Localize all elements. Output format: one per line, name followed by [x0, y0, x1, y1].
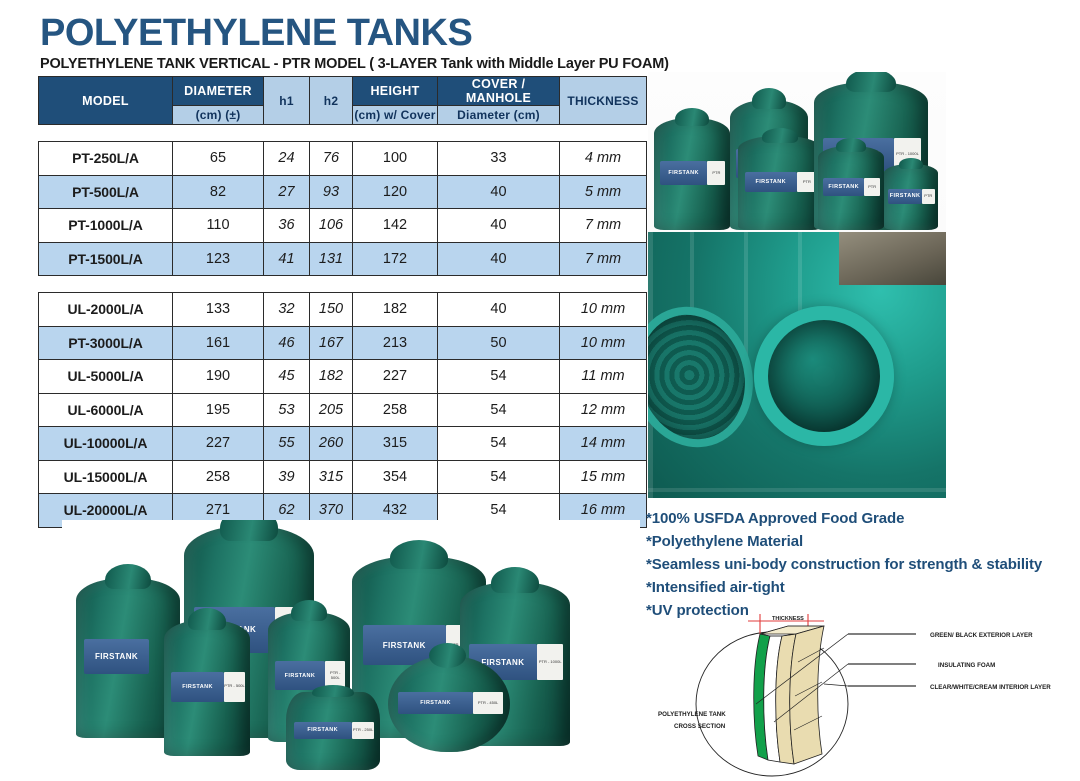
tank-manhole-closeup-photo — [648, 232, 946, 498]
slab-side-face — [790, 626, 824, 764]
cell-h2: 167 — [310, 326, 353, 360]
cell-h2: 150 — [310, 293, 353, 327]
cell-height: 354 — [353, 460, 438, 494]
cell-height: 120 — [353, 175, 438, 209]
col-header-thickness: THICKNESS — [560, 77, 647, 125]
col-header-model: MODEL — [39, 77, 173, 125]
manhole-opening — [754, 306, 894, 446]
cell-model: UL-2000L/A — [39, 293, 173, 327]
cell-thickness: 5 mm — [560, 175, 647, 209]
cell-thickness: 4 mm — [560, 142, 647, 176]
cell-model: PT-1000L/A — [39, 209, 173, 243]
cell-h2: 131 — [310, 242, 353, 276]
spec-table-body: PT-250L/A 65 24 76 100 33 4 mm PT-500L/A… — [39, 125, 647, 528]
table-gap-header — [39, 125, 647, 142]
tank-photo-item: FIRSTANK PTR — [654, 118, 730, 230]
table-row: UL-2000L/A 133 32 150 182 40 10 mm — [39, 293, 647, 327]
feature-item: *100% USFDA Approved Food Grade — [646, 508, 1042, 531]
cell-h2: 106 — [310, 209, 353, 243]
tank-spec-label: PTR — [707, 161, 725, 186]
cell-model: UL-15000L/A — [39, 460, 173, 494]
spec-table-wrapper: MODEL DIAMETER h1 h2 HEIGHT COVER / MANH… — [38, 76, 646, 528]
table-row: UL-5000L/A 190 45 182 227 54 11 mm — [39, 360, 647, 394]
cell-h1: 27 — [264, 175, 310, 209]
cell-model: PT-3000L/A — [39, 326, 173, 360]
cell-h2: 315 — [310, 460, 353, 494]
cell-thickness: 10 mm — [560, 326, 647, 360]
cell-thickness: 7 mm — [560, 242, 647, 276]
cell-thickness: 11 mm — [560, 360, 647, 394]
cell-cover: 40 — [438, 242, 560, 276]
cell-h1: 36 — [264, 209, 310, 243]
cell-cover: 54 — [438, 393, 560, 427]
firstank-product-lineup-photo: FIRSTANK FIRSTANK PTR - 2000L FIRSTANK P… — [62, 520, 640, 778]
cell-model: UL-10000L/A — [39, 427, 173, 461]
tank-brand-label: FIRSTANK — [745, 172, 797, 193]
header-row-top: MODEL DIAMETER h1 h2 HEIGHT COVER / MANH… — [39, 77, 647, 106]
cell-model: PT-250L/A — [39, 142, 173, 176]
feature-item: *Intensified air-tight — [646, 577, 1042, 600]
table-gap-groups — [39, 276, 647, 293]
tank-photo-item: FIRSTANK PTR - 500L — [164, 620, 250, 756]
callout-interior-layer: CLEAR/WHITE/CREAM INTERIOR LAYER — [930, 684, 1051, 691]
tank-spec-label: PTR - 500L — [224, 672, 245, 702]
table-row: PT-1500L/A 123 41 131 172 40 7 mm — [39, 242, 647, 276]
col-header-diameter: DIAMETER — [173, 77, 264, 106]
cell-thickness: 12 mm — [560, 393, 647, 427]
tank-spec-label: PTR - 1000L — [537, 644, 563, 680]
cross-section-caption-line1: POLYETHYLENE TANK — [658, 711, 726, 718]
cell-cover: 50 — [438, 326, 560, 360]
cell-h1: 46 — [264, 326, 310, 360]
cell-height: 315 — [353, 427, 438, 461]
cell-cover: 54 — [438, 360, 560, 394]
soil-background — [839, 232, 946, 285]
cell-h2: 205 — [310, 393, 353, 427]
callout-exterior-layer: GREEN/ BLACK EXTERIOR LAYER — [930, 632, 1033, 639]
cell-thickness: 10 mm — [560, 293, 647, 327]
cell-diameter: 123 — [173, 242, 264, 276]
cross-section-caption-line2: CROSS SECTION — [674, 723, 726, 730]
cross-section-svg: THICKNESS GREEN/ BLACK EXTERIO — [648, 604, 1078, 780]
cell-diameter: 65 — [173, 142, 264, 176]
cell-model: PT-500L/A — [39, 175, 173, 209]
cell-diameter: 110 — [173, 209, 264, 243]
cell-h2: 76 — [310, 142, 353, 176]
tank-brand-label: FIRSTANK — [660, 161, 707, 186]
tank-spec-label: PTR - 250L — [352, 722, 375, 739]
table-row: UL-6000L/A 195 53 205 258 54 12 mm — [39, 393, 647, 427]
cell-h1: 24 — [264, 142, 310, 176]
cell-h1: 39 — [264, 460, 310, 494]
col-subheader-diameter-unit: (cm) (±) — [173, 106, 264, 125]
cell-cover: 40 — [438, 293, 560, 327]
tank-brand-label: FIRSTANK — [171, 672, 224, 702]
cell-h2: 260 — [310, 427, 353, 461]
cell-h1: 53 — [264, 393, 310, 427]
cell-h2: 93 — [310, 175, 353, 209]
tank-spec-label: PTR — [922, 189, 935, 204]
col-subheader-height-unit: (cm) w/ Cover — [353, 106, 438, 125]
tank-photo-item: FIRSTANK PTR — [818, 146, 884, 230]
cell-height: 258 — [353, 393, 438, 427]
cell-height: 172 — [353, 242, 438, 276]
tank-photo-item-horizontal: FIRSTANK PTR - 450L — [388, 656, 510, 752]
cell-h1: 32 — [264, 293, 310, 327]
cell-thickness: 15 mm — [560, 460, 647, 494]
col-header-h1: h1 — [264, 77, 310, 125]
cell-diameter: 195 — [173, 393, 264, 427]
tank-photo-item-cube: FIRSTANK PTR - 250L — [286, 692, 380, 770]
cell-cover: 40 — [438, 175, 560, 209]
cell-height: 100 — [353, 142, 438, 176]
cell-model: UL-6000L/A — [39, 393, 173, 427]
cell-thickness: 7 mm — [560, 209, 647, 243]
table-row: UL-10000L/A 227 55 260 315 54 14 mm — [39, 427, 647, 461]
cell-height: 213 — [353, 326, 438, 360]
feature-item: *Polyethylene Material — [646, 531, 1042, 554]
tank-brand-label: FIRSTANK — [823, 178, 864, 196]
cell-diameter: 161 — [173, 326, 264, 360]
tank-spec-label: PTR — [864, 178, 880, 196]
cell-height: 227 — [353, 360, 438, 394]
cross-section-diagram: THICKNESS GREEN/ BLACK EXTERIO — [648, 604, 1078, 780]
table-row: PT-500L/A 82 27 93 120 40 5 mm — [39, 175, 647, 209]
table-row: PT-3000L/A 161 46 167 213 50 10 mm — [39, 326, 647, 360]
cell-diameter: 82 — [173, 175, 264, 209]
col-header-height: HEIGHT — [353, 77, 438, 106]
cell-h1: 55 — [264, 427, 310, 461]
cell-model: UL-5000L/A — [39, 360, 173, 394]
cell-cover: 54 — [438, 427, 560, 461]
tank-brand-label: FIRSTANK — [888, 189, 921, 204]
leader-line-interior — [824, 684, 848, 686]
tank-brand-label: FIRSTANK — [84, 639, 148, 674]
cell-model: PT-1500L/A — [39, 242, 173, 276]
feature-item: *Seamless uni-body construction for stre… — [646, 554, 1042, 577]
table-row: PT-250L/A 65 24 76 100 33 4 mm — [39, 142, 647, 176]
table-subtitle: POLYETHYLENE TANK VERTICAL - PTR MODEL (… — [40, 56, 669, 72]
tank-brand-label: FIRSTANK — [294, 722, 352, 739]
cell-cover: 40 — [438, 209, 560, 243]
thickness-label: THICKNESS — [772, 616, 804, 622]
col-header-h2: h2 — [310, 77, 353, 125]
tank-photo-item: FIRSTANK PTR — [738, 136, 822, 230]
cell-height: 182 — [353, 293, 438, 327]
cell-diameter: 133 — [173, 293, 264, 327]
table-row: UL-15000L/A 258 39 315 354 54 15 mm — [39, 460, 647, 494]
cell-h1: 41 — [264, 242, 310, 276]
col-header-cover-manhole: COVER / MANHOLE — [438, 77, 560, 106]
callout-insulating-foam: INSULATING FOAM — [938, 662, 995, 669]
page-title: POLYETHYLENE TANKS — [40, 12, 472, 55]
tank-spec-label: PTR - 450L — [473, 692, 502, 713]
cell-diameter: 227 — [173, 427, 264, 461]
pipe-rib — [648, 488, 946, 492]
cell-height: 142 — [353, 209, 438, 243]
tank-photo-item: FIRSTANK PTR — [884, 164, 938, 230]
table-row: PT-1000L/A 110 36 106 142 40 7 mm — [39, 209, 647, 243]
col-subheader-cover-unit: Diameter (cm) — [438, 106, 560, 125]
spec-table: MODEL DIAMETER h1 h2 HEIGHT COVER / MANH… — [38, 76, 647, 528]
tank-brand-label: FIRSTANK — [275, 661, 326, 690]
cell-diameter: 258 — [173, 460, 264, 494]
cell-cover: 33 — [438, 142, 560, 176]
cell-cover: 54 — [438, 460, 560, 494]
cell-h2: 182 — [310, 360, 353, 394]
cell-h1: 45 — [264, 360, 310, 394]
poster-page: POLYETHYLENE TANKS POLYETHYLENE TANK VER… — [0, 0, 1080, 781]
tank-brand-label: FIRSTANK — [398, 692, 474, 713]
spec-table-head: MODEL DIAMETER h1 h2 HEIGHT COVER / MANH… — [39, 77, 647, 125]
product-tanks-row-photo: FIRSTANK PTR FIRSTANK PTR FIRSTANK PTR F… — [648, 72, 946, 232]
cell-diameter: 190 — [173, 360, 264, 394]
cell-thickness: 14 mm — [560, 427, 647, 461]
